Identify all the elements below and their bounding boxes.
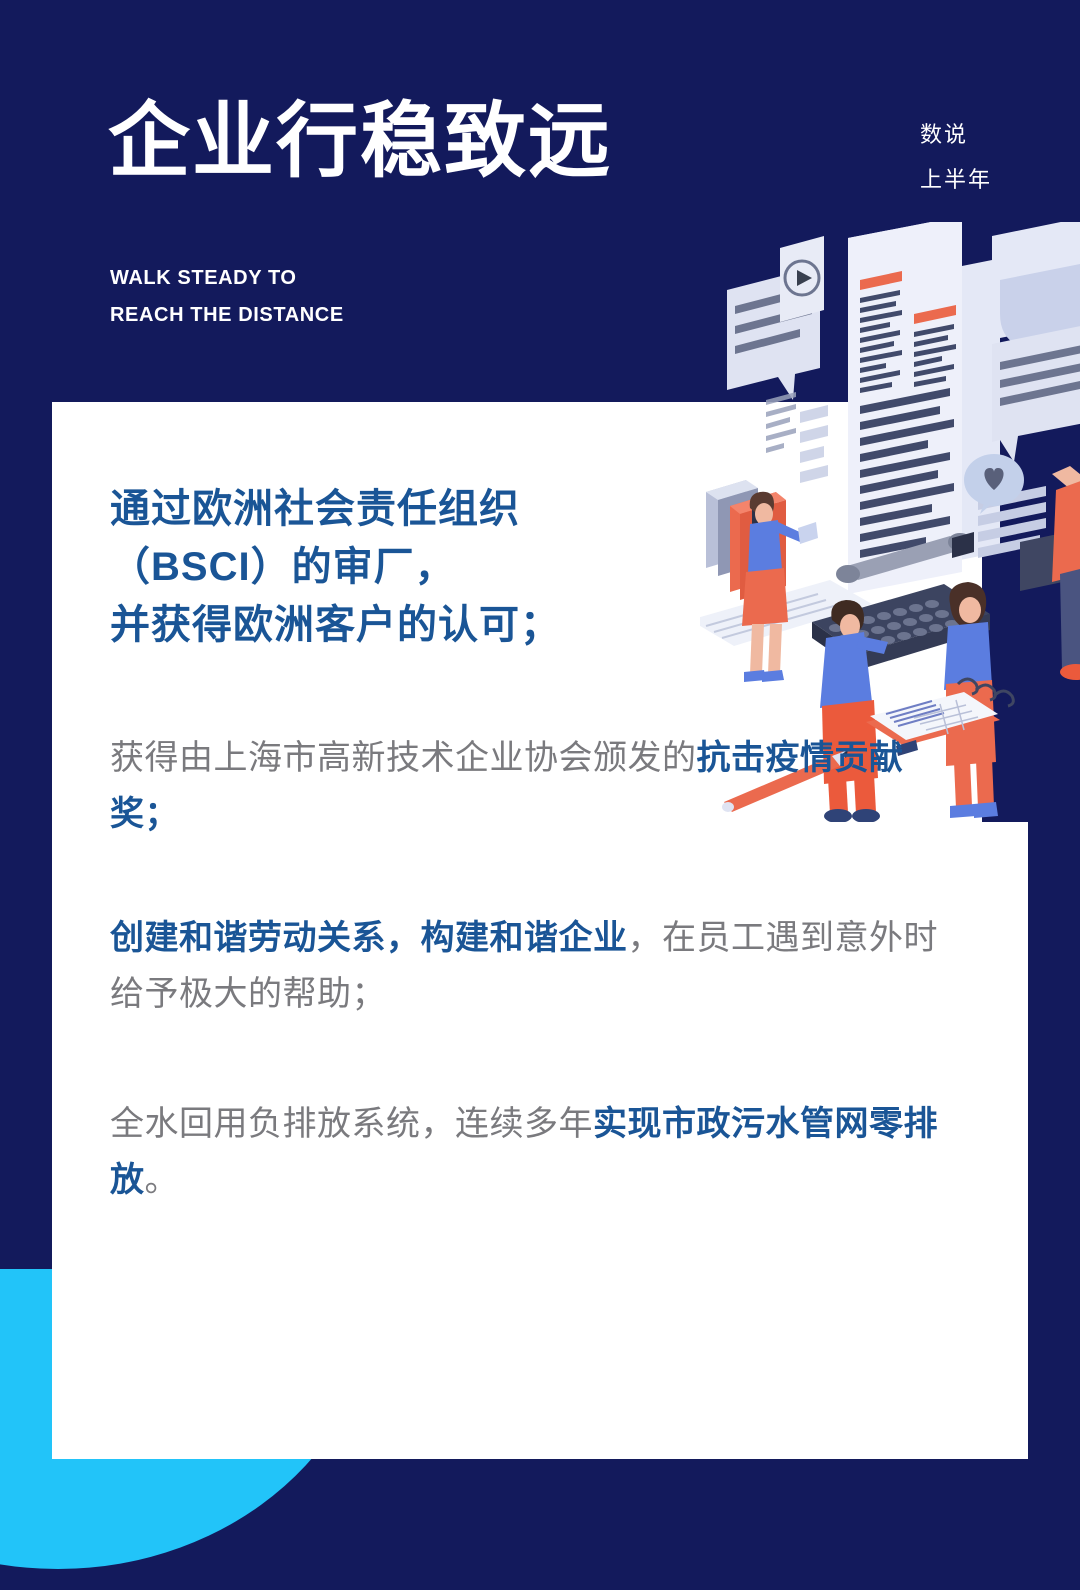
person-reaching [1052, 466, 1080, 680]
spacer-3 [110, 1030, 970, 1096]
card-body-text: 通过欧洲社会责任组织 （BSCI）的审厂， 并获得欧洲客户的认可； 获得由上海市… [110, 480, 970, 1216]
corner-badge-line-1: 数说 [920, 112, 992, 157]
paragraph-water-plain-a: 全水回用负排放系统，连续多年 [110, 1105, 593, 1143]
paragraph-bsci: 通过欧洲社会责任组织 （BSCI）的审厂， 并获得欧洲客户的认可； [110, 480, 970, 654]
spacer-1 [110, 662, 970, 730]
subtitle-line-2: REACH THE DISTANCE [110, 297, 344, 334]
poster-header: 企业行稳致远 WALK STEADY TO REACH THE DISTANCE… [0, 0, 1080, 402]
paragraph-water-plain-b: 。 [145, 1161, 180, 1199]
paragraph-award-plain: 获得由上海市高新技术企业协会颁发的 [110, 739, 697, 777]
paragraph-award: 获得由上海市高新技术企业协会颁发的抗击疫情贡献奖； [110, 730, 970, 842]
page-title: 企业行稳致远 [108, 99, 612, 185]
paragraph-bsci-line-1: 通过欧洲社会责任组织 [110, 480, 970, 538]
page-subtitle: WALK STEADY TO REACH THE DISTANCE [110, 260, 344, 334]
paragraph-harmony: 创建和谐劳动关系，构建和谐企业，在员工遇到意外时给予极大的帮助； [110, 910, 970, 1022]
paragraph-bsci-line-3: 并获得欧洲客户的认可； [110, 596, 970, 654]
corner-badge: 数说 上半年 [920, 112, 992, 202]
paragraph-bsci-line-2: （BSCI）的审厂， [110, 538, 970, 596]
corner-badge-line-2: 上半年 [920, 157, 992, 202]
spacer-2 [110, 850, 970, 910]
poster-root: 企业行稳致远 WALK STEADY TO REACH THE DISTANCE… [0, 0, 1080, 1590]
paragraph-harmony-highlight: 创建和谐劳动关系，构建和谐企业 [110, 919, 628, 957]
paragraph-water: 全水回用负排放系统，连续多年实现市政污水管网零排放。 [110, 1096, 970, 1208]
subtitle-line-1: WALK STEADY TO [110, 260, 344, 297]
